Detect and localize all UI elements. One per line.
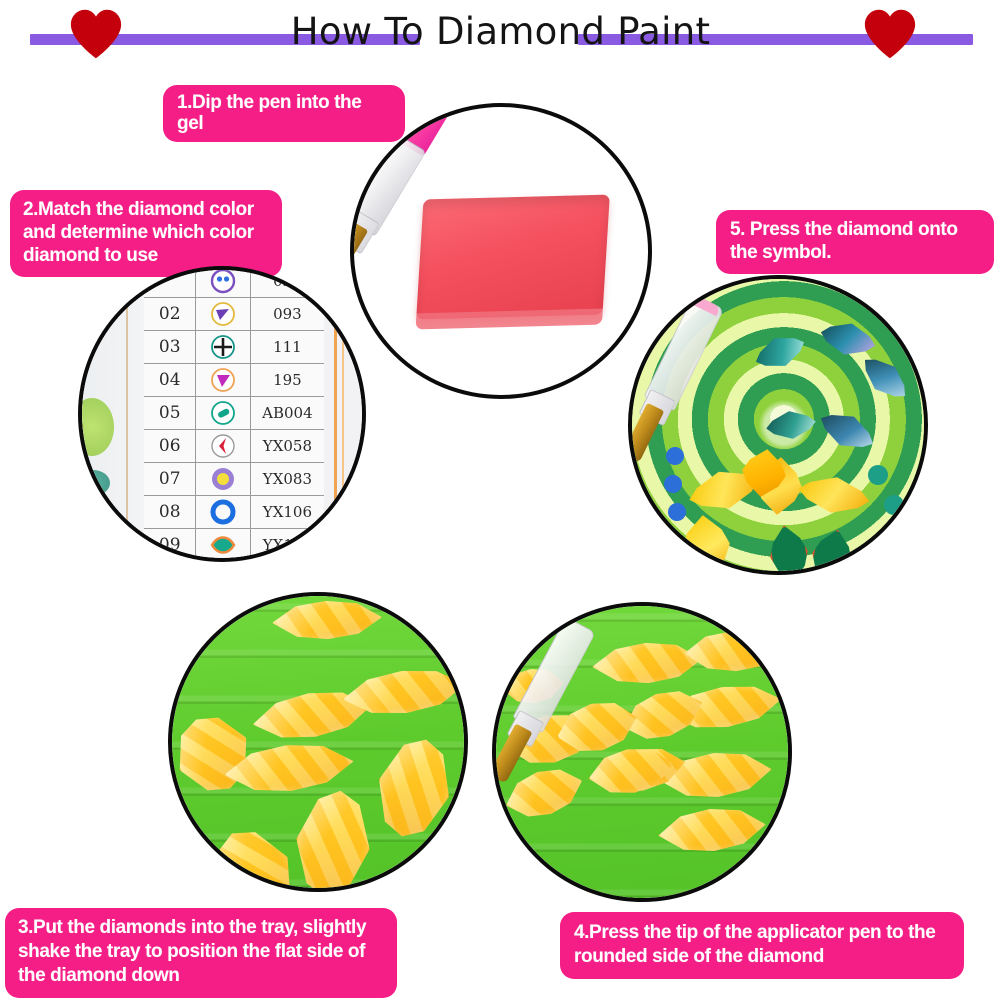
cell-code: 195 bbox=[251, 364, 324, 396]
leaf-symbol bbox=[210, 532, 236, 558]
step-5-photo bbox=[628, 275, 928, 575]
chart-orange-line bbox=[334, 270, 337, 558]
step-1-label: 1.Dip the pen into the gel bbox=[163, 85, 405, 142]
cell-code: YX106 bbox=[251, 496, 324, 528]
step-2-label: 2.Match the diamond color and determine … bbox=[10, 190, 282, 277]
canvas-dot bbox=[666, 447, 684, 465]
step-3-label: 3.Put the diamonds into the tray, slight… bbox=[5, 908, 397, 998]
cell-code: 028 bbox=[251, 270, 324, 297]
page-title: How To Diamond Paint bbox=[0, 8, 1001, 56]
cell-code: YX125 bbox=[251, 529, 324, 558]
cell-number: 04 bbox=[144, 364, 196, 396]
cell-number: 03 bbox=[144, 331, 196, 363]
step-4-photo bbox=[492, 602, 792, 902]
cell-number: 06 bbox=[144, 430, 196, 462]
cell-symbol bbox=[196, 529, 250, 558]
page-header: How To Diamond Paint bbox=[0, 0, 1001, 72]
table-row: 02 093 bbox=[144, 298, 324, 331]
cell-number: 09 bbox=[144, 529, 196, 558]
pill-symbol bbox=[210, 400, 236, 426]
canvas-dot bbox=[664, 475, 682, 493]
cell-symbol bbox=[196, 397, 250, 429]
ring-dot-symbol bbox=[210, 466, 236, 492]
cell-symbol bbox=[196, 331, 250, 363]
plus-symbol bbox=[210, 334, 236, 360]
cell-symbol bbox=[196, 430, 250, 462]
chevron-symbol bbox=[210, 433, 236, 459]
cell-symbol bbox=[196, 496, 250, 528]
table-row: 028 bbox=[144, 270, 324, 298]
cell-symbol bbox=[196, 270, 250, 297]
cell-number: 07 bbox=[144, 463, 196, 495]
cell-symbol bbox=[196, 463, 250, 495]
table-row: 09 YX125 bbox=[144, 529, 324, 558]
diamond-color-chart: 028 02 093 03 bbox=[144, 270, 324, 558]
step-4-label: 4.Press the tip of the applicator pen to… bbox=[560, 912, 964, 979]
table-row: 06 YX058 bbox=[144, 430, 324, 463]
cell-number: 02 bbox=[144, 298, 196, 330]
infographic-page: How To Diamond Paint 1.Dip the pen into … bbox=[0, 0, 1001, 1001]
gel-pad bbox=[416, 195, 610, 320]
canvas-dot bbox=[668, 503, 686, 521]
table-row: 04 195 bbox=[144, 364, 324, 397]
canvas-dot bbox=[868, 465, 888, 485]
step-2-photo: 028 02 093 03 bbox=[78, 266, 366, 562]
table-row: 08 YX106 bbox=[144, 496, 324, 529]
cell-code: YX083 bbox=[251, 463, 324, 495]
step-3-photo bbox=[168, 592, 468, 892]
cell-code: AB004 bbox=[251, 397, 324, 429]
cell-symbol bbox=[196, 298, 250, 330]
step-1-photo bbox=[350, 103, 652, 399]
cell-symbol bbox=[196, 364, 250, 396]
triangle-symbol bbox=[210, 301, 236, 327]
table-row: 05 AB004 bbox=[144, 397, 324, 430]
cell-number bbox=[144, 270, 196, 297]
cell-code: 111 bbox=[251, 331, 324, 363]
cell-code: 093 bbox=[251, 298, 324, 330]
chart-orange-line-secondary bbox=[342, 270, 344, 558]
cell-code: YX058 bbox=[251, 430, 324, 462]
step-5-label: 5. Press the diamond onto the symbol. bbox=[716, 210, 994, 274]
cell-number: 05 bbox=[144, 397, 196, 429]
dotted-circle-symbol bbox=[210, 270, 236, 294]
table-row: 03 111 bbox=[144, 331, 324, 364]
cell-number: 08 bbox=[144, 496, 196, 528]
canvas-dot bbox=[884, 495, 904, 515]
table-row: 07 YX083 bbox=[144, 463, 324, 496]
ring-symbol bbox=[210, 499, 236, 525]
triangle-symbol bbox=[210, 367, 236, 393]
chart-left-margin-line bbox=[126, 270, 128, 558]
